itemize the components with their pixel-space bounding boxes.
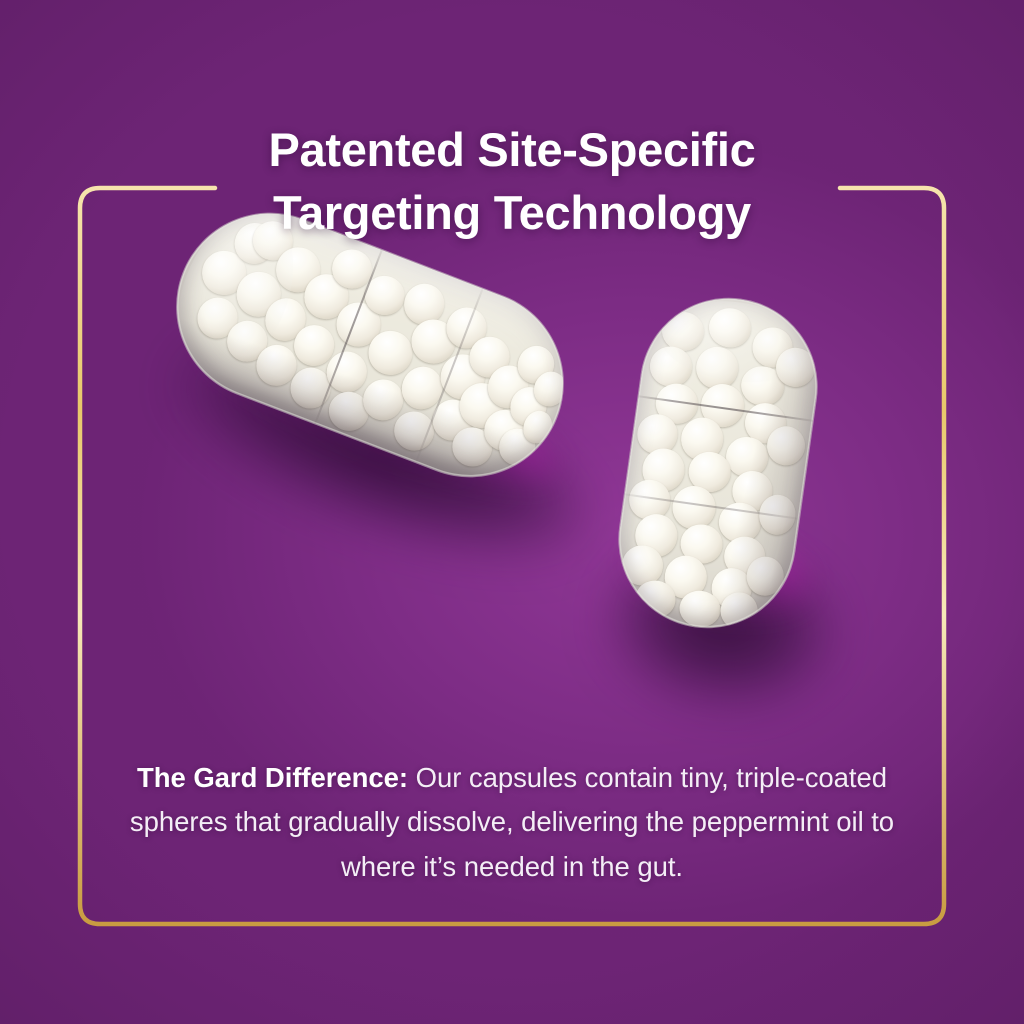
- body-copy: The Gard Difference: Our capsules contai…: [112, 756, 912, 890]
- product-image-group: [0, 210, 1024, 730]
- page-title: Patented Site-Specific Targeting Technol…: [0, 119, 1024, 244]
- body-copy-lead-in: The Gard Difference:: [137, 762, 408, 793]
- product-marketing-image: Patented Site-Specific Targeting Technol…: [0, 0, 1024, 1024]
